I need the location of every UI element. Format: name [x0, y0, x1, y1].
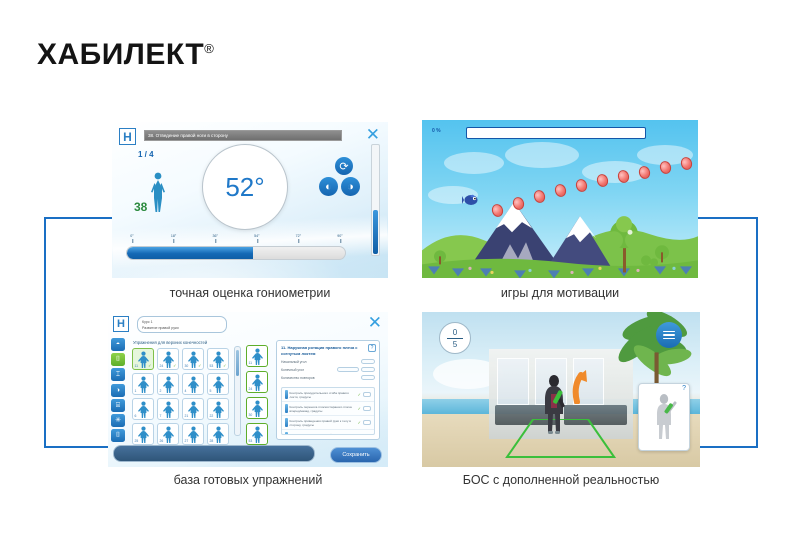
check-icon[interactable]: ✓ [358, 421, 361, 425]
detail-row-slider[interactable] [337, 367, 359, 372]
selected-exercise-cell[interactable]: 30 [246, 397, 268, 419]
checklist-item[interactable]: Контроль приведения правой руки к телу в… [282, 430, 374, 435]
panel-goniometry[interactable]: H 38. Отведение правой ноги в сторону ✕ … [112, 122, 388, 278]
rotate-left-icon[interactable]: ◐ [319, 177, 338, 196]
selected-exercises-column[interactable]: 11243053 [246, 345, 268, 445]
detail-row-label: Конечный угол [281, 368, 304, 372]
hamburger-menu-icon[interactable] [656, 322, 682, 348]
exercise-cell[interactable]: 53✓ [207, 348, 229, 370]
exercise-number: 11 [135, 364, 139, 368]
angle-scale-ticks: 0°18°36°54°72°90° [126, 234, 346, 244]
selected-exercise-cell[interactable]: 53 [246, 423, 268, 445]
save-button[interactable]: Сохранить [330, 447, 382, 463]
head-icon[interactable]: ◓ [111, 338, 125, 351]
angle-progress-bar[interactable] [126, 246, 346, 260]
detail-row[interactable]: Конечный угол [281, 367, 375, 372]
exercise-cell[interactable]: 5 [207, 373, 229, 395]
course-fields[interactable]: Курс 1 Развитие правой руки [137, 316, 227, 333]
exercise-number: 24 [249, 387, 253, 391]
check-icon[interactable]: ✓ [358, 407, 361, 411]
exercise-figure-icon [137, 426, 150, 443]
window-icon [497, 358, 529, 405]
check-icon[interactable]: ✓ [358, 435, 361, 436]
grid-scrollbar[interactable] [234, 346, 241, 436]
exercise-figure-icon [162, 426, 175, 443]
caption-motivation-game: игры для мотивации [422, 286, 698, 300]
star-icon[interactable]: ✳ [111, 414, 125, 427]
exercise-number: 27 [185, 439, 189, 443]
exercise-cell[interactable]: 11✓ [132, 348, 154, 370]
item-bar-icon [285, 418, 288, 427]
detail-row-value[interactable] [361, 359, 375, 364]
counter-total: 5 [453, 340, 457, 349]
app-logo-h: H [119, 128, 136, 145]
exercise-figure-icon [187, 426, 200, 443]
exercise-figure-icon [251, 400, 264, 417]
angle-scale: 0°18°36°54°72°90° [126, 234, 346, 262]
exercise-cell[interactable]: 21 [182, 398, 204, 420]
detail-row[interactable]: Количество повторов [281, 375, 375, 380]
item-bar-icon [285, 432, 288, 435]
section-title: Упражнения для верхних конечностей [133, 340, 207, 345]
bird-icon [462, 194, 479, 206]
check-icon: ✓ [173, 363, 176, 368]
selected-exercise-cell[interactable]: 24 [246, 371, 268, 393]
course-subtitle-field[interactable]: Развитие правой руки [142, 325, 222, 331]
panel-motivation-game[interactable]: 0 % [422, 120, 698, 278]
scale-tick: 0° [130, 234, 133, 238]
person-icon[interactable]: ⌷ [111, 429, 125, 442]
secondary-angle-value: 38 [134, 200, 147, 214]
exercise-cell[interactable]: 25 [132, 423, 154, 445]
checklist-item-value[interactable] [363, 420, 371, 425]
vertical-slider[interactable] [371, 144, 380, 256]
exercise-figure-icon [251, 426, 264, 443]
angle-display: 52° [202, 144, 288, 230]
checklist-item-value[interactable] [363, 392, 371, 397]
exercise-cell[interactable]: 30✓ [182, 348, 204, 370]
window-title: 38. Отведение правой ноги в сторону [144, 130, 342, 141]
checklist-item-value[interactable] [363, 434, 371, 435]
exercise-figure-icon [137, 376, 150, 393]
exercise-number: 53 [249, 439, 253, 443]
exercise-number: 30 [185, 364, 189, 368]
detail-row-value[interactable] [361, 367, 375, 372]
exercise-figure-icon [212, 376, 225, 393]
patient-silhouette [542, 374, 566, 436]
exercise-cell[interactable]: 24✓ [157, 348, 179, 370]
refresh-icon[interactable]: ⟳ [335, 157, 353, 175]
category-sidebar[interactable]: ◓⌷⌶◑⌸✳⌷ [111, 338, 125, 442]
exercise-figure-icon [251, 348, 264, 365]
rotate-right-icon[interactable]: ◑ [341, 177, 360, 196]
exercise-grid[interactable]: 11✓24✓30✓53✓124567212225262728 [132, 348, 229, 445]
bottom-toolbar[interactable] [113, 445, 315, 462]
panel-ar-biofeedback[interactable]: 0 5 ? [422, 312, 700, 467]
scale-tick: 18° [171, 234, 176, 238]
caption-exercise-database: база готовых упражнений [108, 473, 388, 487]
score-label: 0 % [432, 128, 441, 134]
detail-parameter-rows: Начальный уголКонечный уголКоличество по… [281, 359, 375, 380]
legs-icon[interactable]: ◑ [111, 384, 125, 397]
exercise-figure-icon [137, 401, 150, 418]
checklist-item-label: Контроль принудительного сгиба правого л… [290, 391, 356, 399]
checklist-item-value[interactable] [363, 406, 371, 411]
exercise-cell[interactable]: 7 [157, 398, 179, 420]
detail-row[interactable]: Начальный угол [281, 359, 375, 364]
app-logo-h: H [113, 316, 129, 332]
detail-row-value[interactable] [361, 375, 375, 380]
checklist-item[interactable]: Контроль принудительного сгиба правого л… [282, 388, 374, 402]
caption-ar-biofeedback: БОС с дополненной реальностью [422, 473, 700, 487]
check-icon[interactable]: ✓ [358, 393, 361, 397]
exercise-number: 7 [160, 414, 162, 418]
exercise-number: 25 [135, 439, 139, 443]
selected-exercise-cell[interactable]: 11 [246, 345, 268, 367]
scrollbar-thumb[interactable] [236, 350, 239, 376]
exercise-cell[interactable]: 6 [132, 398, 154, 420]
close-icon[interactable]: ✕ [368, 315, 382, 332]
exercise-number: 6 [135, 414, 137, 418]
exercise-cell[interactable]: 2 [157, 373, 179, 395]
exercise-number: 21 [185, 414, 189, 418]
exercise-number: 26 [160, 439, 164, 443]
scale-tick: 36° [212, 234, 217, 238]
checklist-item[interactable]: Контроль приведения правой руки к телу в… [282, 416, 374, 430]
checklist-item-label: Контроль приведения правой руки к телу в… [290, 419, 356, 427]
person-figure-icon [150, 172, 166, 212]
exercise-cell[interactable]: 27 [182, 423, 204, 445]
exercise-cell[interactable]: 28 [207, 423, 229, 445]
exercise-figure-icon [212, 426, 225, 443]
exercise-figure-icon [251, 374, 264, 391]
exercise-number: 53 [210, 364, 214, 368]
checklist-item[interactable]: Контроль переноса плоскостараного плеча … [282, 402, 374, 416]
exercise-number: 28 [210, 439, 214, 443]
game-progress-bar [466, 127, 646, 139]
exercise-cell[interactable]: 26 [157, 423, 179, 445]
checklist-item-label: Контроль переноса плоскостараного плеча … [290, 405, 356, 413]
exercise-cell[interactable]: 22 [207, 398, 229, 420]
help-icon[interactable]: ? [368, 344, 376, 352]
exercise-number: 5 [210, 389, 212, 393]
vertical-slider-fill [373, 210, 378, 254]
detail-row-label: Количество повторов [281, 376, 315, 380]
detail-title: 11. Наружная ротация правого плеча с сог… [281, 345, 375, 356]
close-icon[interactable]: ✕ [366, 127, 380, 144]
cloud-icon [505, 142, 579, 168]
exercise-preview-card[interactable]: ? [638, 383, 690, 451]
scale-tick: 72° [296, 234, 301, 238]
check-icon: ✓ [148, 363, 151, 368]
repetition-counter: 1 / 4 [138, 150, 154, 159]
counter-current: 0 [453, 328, 457, 337]
brand-name: ХАБИЛЕКТ [37, 38, 204, 71]
torso-icon[interactable]: ⌶ [111, 368, 125, 381]
caption-goniometry: точная оценка гониометрии [112, 286, 388, 300]
exercise-figure-icon [212, 401, 225, 418]
scale-tick: 90° [337, 234, 342, 238]
arms-icon[interactable]: ⌸ [111, 399, 125, 412]
exercise-number: 22 [210, 414, 214, 418]
exercise-figure-icon [187, 401, 200, 418]
exercise-number: 1 [135, 389, 137, 393]
exercise-number: 24 [160, 364, 164, 368]
repetition-counter: 0 5 [439, 322, 471, 354]
body-green-icon[interactable]: ⌷ [111, 353, 125, 366]
checklist-item-label: Контроль приведения правой руки к телу в… [290, 433, 356, 436]
exercise-cell[interactable]: 4 [182, 373, 204, 395]
exercise-detail-panel[interactable]: 11. Наружная ротация правого плеча с сог… [276, 340, 380, 440]
cloud-icon [444, 152, 504, 174]
angle-progress-fill [127, 247, 253, 259]
exercise-number: 4 [185, 389, 187, 393]
exercise-number: 30 [249, 413, 253, 417]
motion-arrow-icon [572, 368, 598, 404]
exercise-cell[interactable]: 1 [132, 373, 154, 395]
exercise-number: 11 [249, 361, 253, 365]
help-icon[interactable]: ? [682, 385, 686, 392]
item-bar-icon [285, 404, 288, 413]
exercise-number: 2 [160, 389, 162, 393]
brand-logo: ХАБИЛЕКТ® [37, 38, 214, 72]
control-checklist[interactable]: Контроль принудительного сгиба правого л… [281, 387, 375, 435]
scale-tick: 54° [254, 234, 259, 238]
exercise-figure-icon [162, 401, 175, 418]
counter-divider [447, 338, 463, 339]
exercise-figure-icon [162, 376, 175, 393]
detail-row-label: Начальный угол [281, 360, 306, 364]
exercise-figure-icon [650, 393, 678, 441]
check-icon: ✓ [223, 363, 226, 368]
exercise-figure-icon [187, 376, 200, 393]
panel-exercise-database[interactable]: H ✕ Курс 1 Развитие правой руки ◓⌷⌶◑⌸✳⌷ … [108, 312, 388, 467]
check-icon: ✓ [198, 363, 201, 368]
item-bar-icon [285, 390, 288, 399]
trademark-symbol: ® [204, 41, 214, 56]
